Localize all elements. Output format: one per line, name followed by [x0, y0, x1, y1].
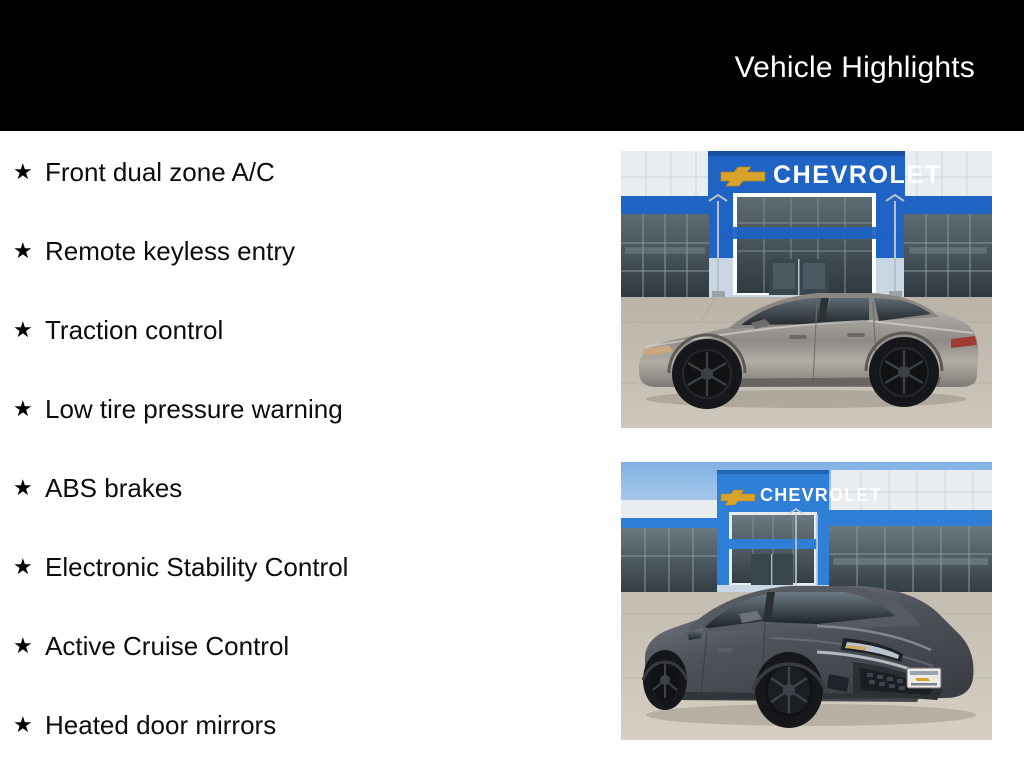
front-wheel: [672, 339, 742, 409]
list-item: ★ Electronic Stability Control: [13, 550, 348, 584]
vehicle-highlights-slide: Vehicle Highlights ★ Front dual zone A/C…: [0, 0, 1024, 768]
star-icon: ★: [13, 319, 33, 341]
list-item: ★ ABS brakes: [13, 471, 182, 505]
star-icon: ★: [13, 556, 33, 578]
rear-wheel: [643, 650, 687, 710]
vehicle-photo-side-profile[interactable]: CHEVROLET: [621, 151, 992, 428]
feature-label: Remote keyless entry: [45, 236, 295, 266]
feature-label: ABS brakes: [45, 473, 182, 503]
feature-label: Active Cruise Control: [45, 631, 289, 661]
feature-label: Front dual zone A/C: [45, 157, 275, 187]
rear-wheel: [869, 337, 939, 407]
feature-label: Low tire pressure warning: [45, 394, 343, 424]
star-icon: ★: [13, 477, 33, 499]
feature-label: Electronic Stability Control: [45, 552, 348, 582]
vehicle-photo-front-three-quarter[interactable]: PLATINUM CHEVROLET: [621, 462, 992, 740]
vehicle-features-list: ★ Front dual zone A/C ★ Remote keyless e…: [0, 131, 600, 768]
list-item: ★ Low tire pressure warning: [13, 392, 343, 426]
list-item: ★ Remote keyless entry: [13, 234, 295, 268]
feature-label: Traction control: [45, 315, 223, 345]
dealer-license-plate: [907, 668, 941, 688]
list-item: ★ Traction control: [13, 313, 223, 347]
star-icon: ★: [13, 714, 33, 736]
dealership-sign-text: CHEVROLET: [760, 485, 882, 505]
list-item: ★ Heated door mirrors: [13, 708, 276, 742]
list-item: ★ Front dual zone A/C: [13, 155, 275, 189]
page-title: Vehicle Highlights: [735, 50, 975, 86]
star-icon: ★: [13, 240, 33, 262]
feature-label: Heated door mirrors: [45, 710, 276, 740]
vehicle-photo-front-three-quarter-graphic: PLATINUM CHEVROLET: [621, 462, 992, 740]
star-icon: ★: [13, 161, 33, 183]
vehicle-photo-side-profile-graphic: CHEVROLET: [621, 151, 992, 428]
star-icon: ★: [13, 398, 33, 420]
star-icon: ★: [13, 635, 33, 657]
dealership-sign-text: CHEVROLET: [773, 161, 942, 189]
header-bar: Vehicle Highlights: [0, 0, 1024, 131]
list-item: ★ Active Cruise Control: [13, 629, 289, 663]
